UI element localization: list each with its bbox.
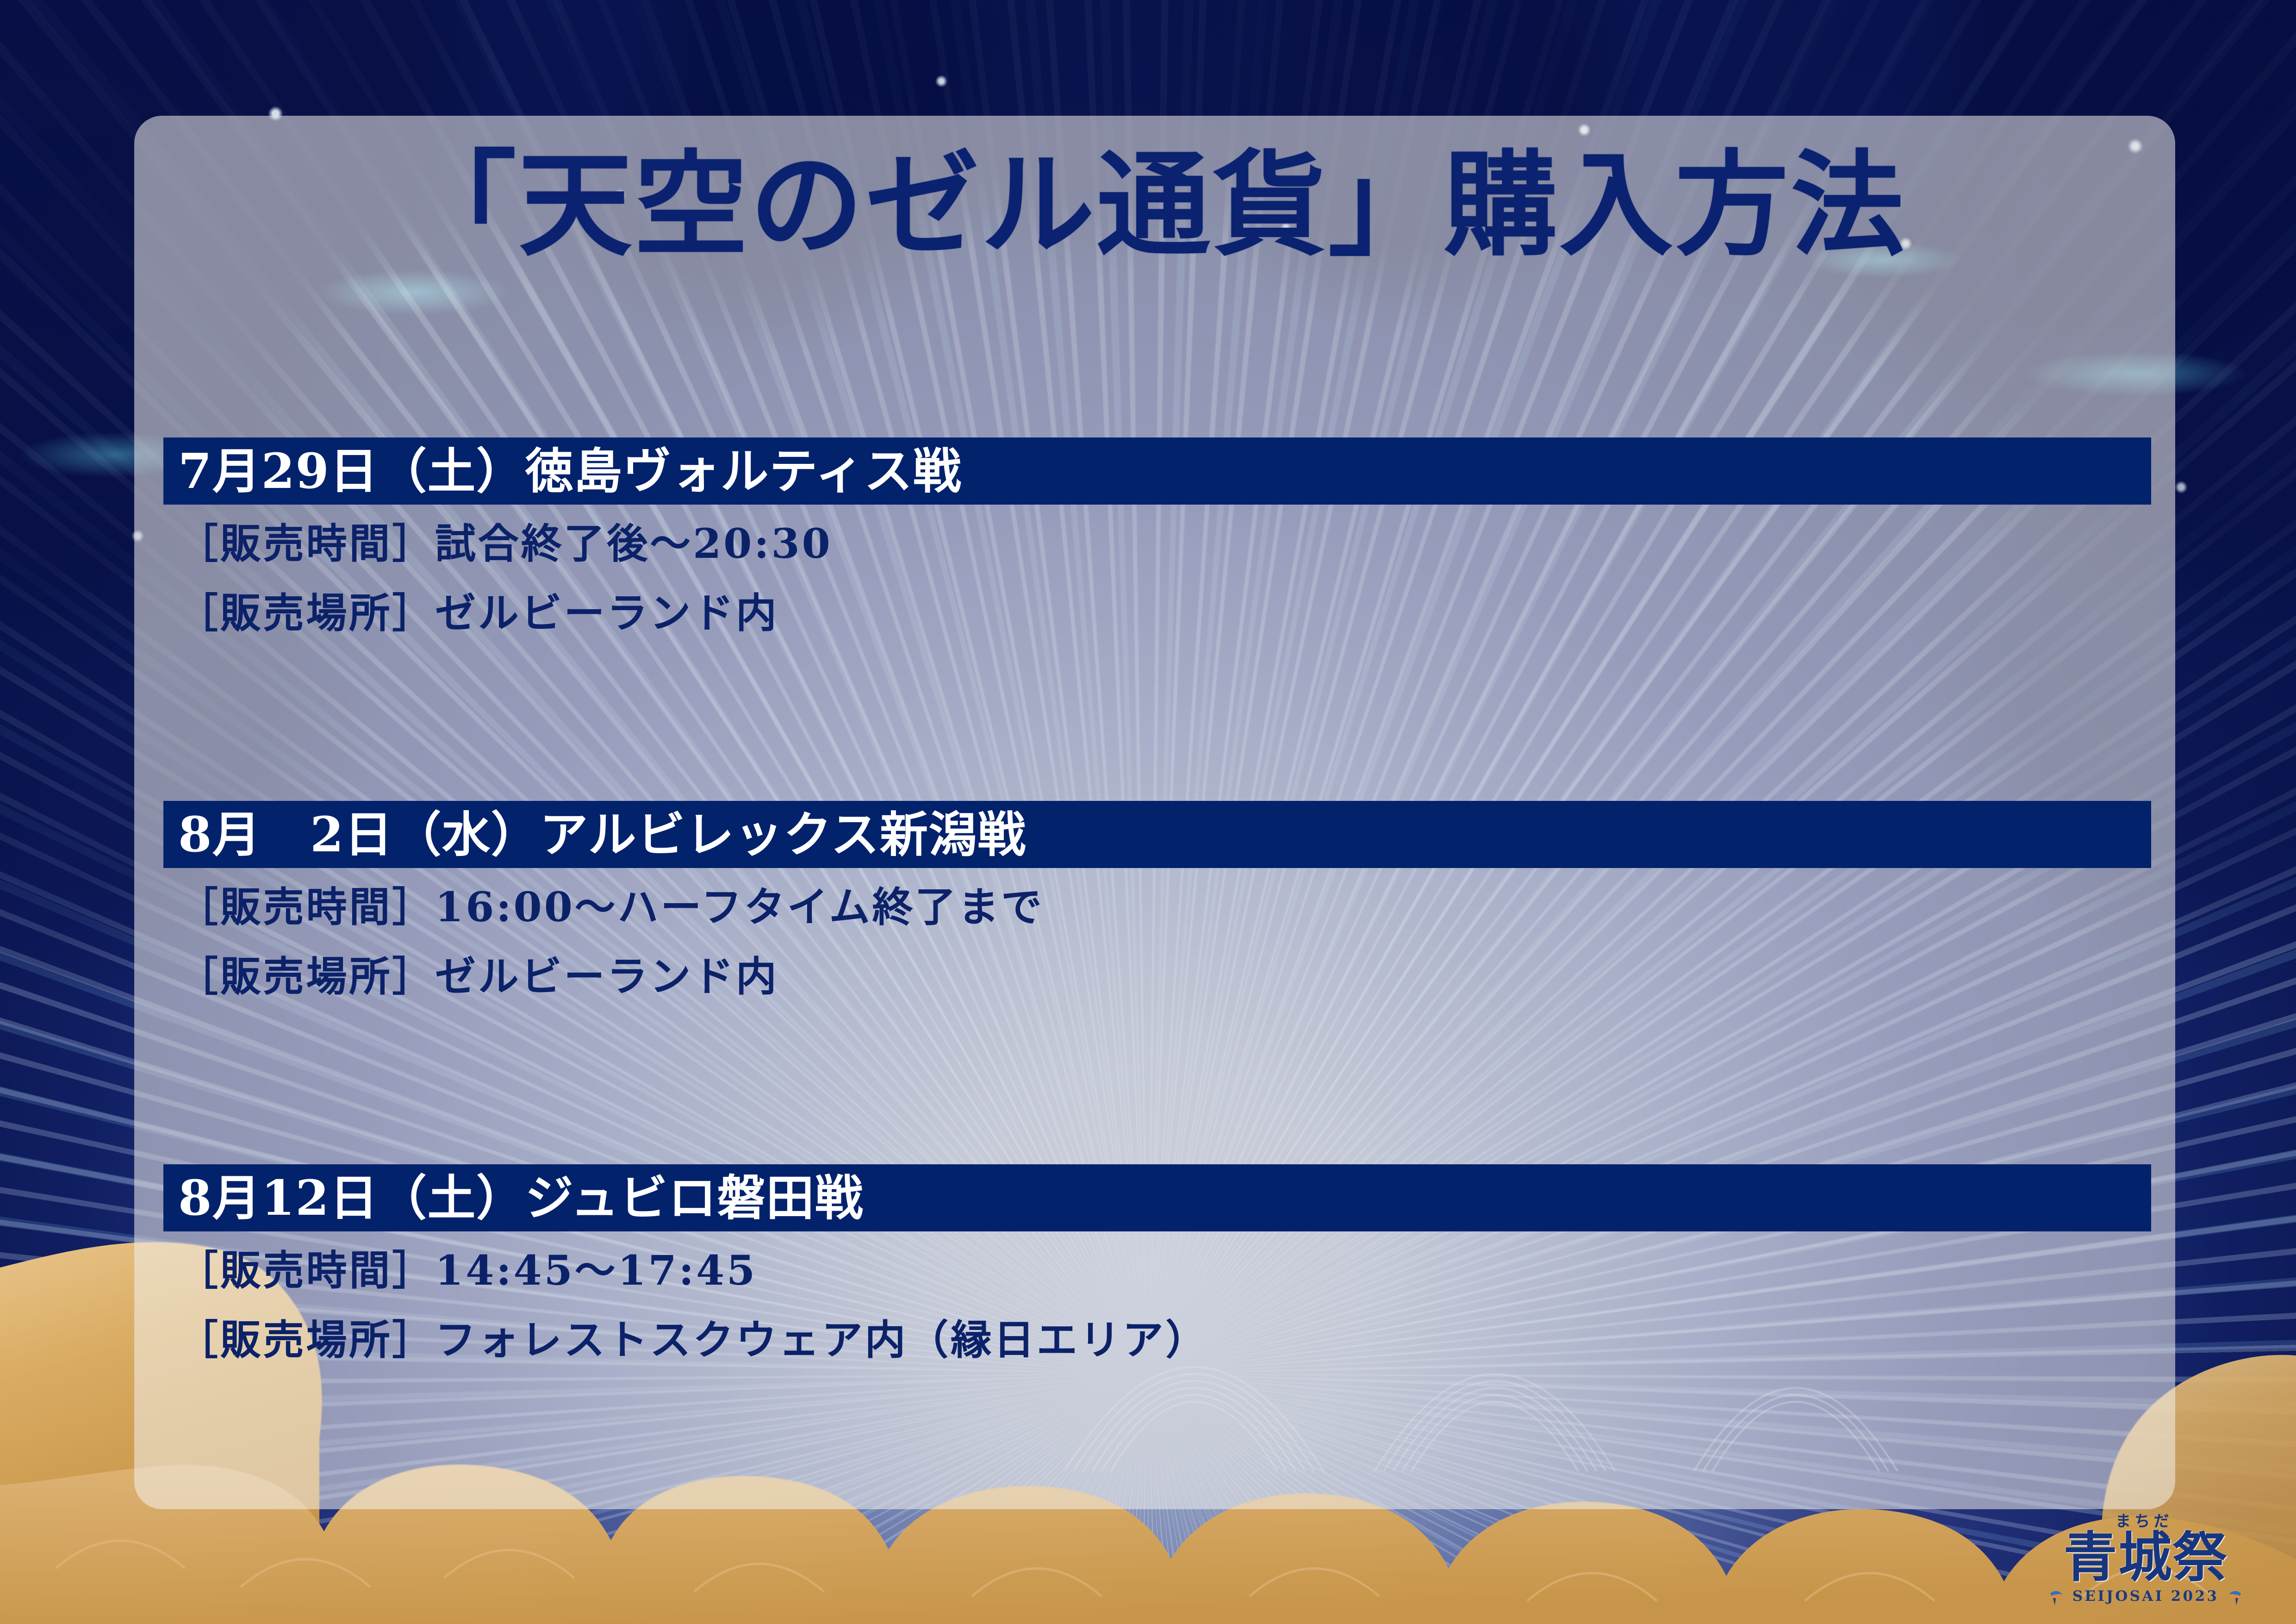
match-section-3: 8月12日（土）ジュビロ磐田戦 ［販売時間］14:45～17:45 ［販売場所］… [163,1164,2151,1360]
match-section-1: 7月29日（土）徳島ヴォルティス戦 ［販売時間］試合終了後～20:30 ［販売場… [163,437,2151,633]
left-wing-icon [2047,1587,2068,1605]
page-title: 「天空のゼル通貨」購入方法 [134,148,2175,262]
match-details-1: ［販売時間］試合終了後～20:30 ［販売場所］ゼルビーランド内 [163,505,2151,633]
content-card: 「天空のゼル通貨」購入方法 7月29日（土）徳島ヴォルティス戦 ［販売時間］試合… [134,116,2175,1509]
sale-place-1: ［販売場所］ゼルビーランド内 [177,593,2151,633]
logo-subtitle: SEIJOSAI 2023 [2072,1589,2219,1604]
logo-title: 青城祭 [2046,1530,2245,1584]
festival-logo: まちだ 青城祭 SEIJOSAI 2023 [2046,1513,2245,1605]
match-header-3: 8月12日（土）ジュビロ磐田戦 [163,1164,2151,1231]
match-header-2: 8月 2日（水）アルビレックス新潟戦 [163,801,2151,868]
sale-time-1: ［販売時間］試合終了後～20:30 [177,523,2151,564]
match-header-1: 7月29日（土）徳島ヴォルティス戦 [163,437,2151,505]
match-details-3: ［販売時間］14:45～17:45 ［販売場所］フォレストスクウェア内（縁日エリ… [163,1231,2151,1360]
match-details-2: ［販売時間］16:00～ハーフタイム終了まで ［販売場所］ゼルビーランド内 [163,868,2151,997]
sale-time-3: ［販売時間］14:45～17:45 [177,1250,2151,1291]
sale-place-2: ［販売場所］ゼルビーランド内 [177,956,2151,997]
match-section-2: 8月 2日（水）アルビレックス新潟戦 ［販売時間］16:00～ハーフタイム終了ま… [163,801,2151,997]
sale-time-2: ［販売時間］16:00～ハーフタイム終了まで [177,887,2151,927]
right-wing-icon [2223,1587,2244,1605]
sale-place-3: ［販売場所］フォレストスクウェア内（縁日エリア） [177,1319,2151,1360]
